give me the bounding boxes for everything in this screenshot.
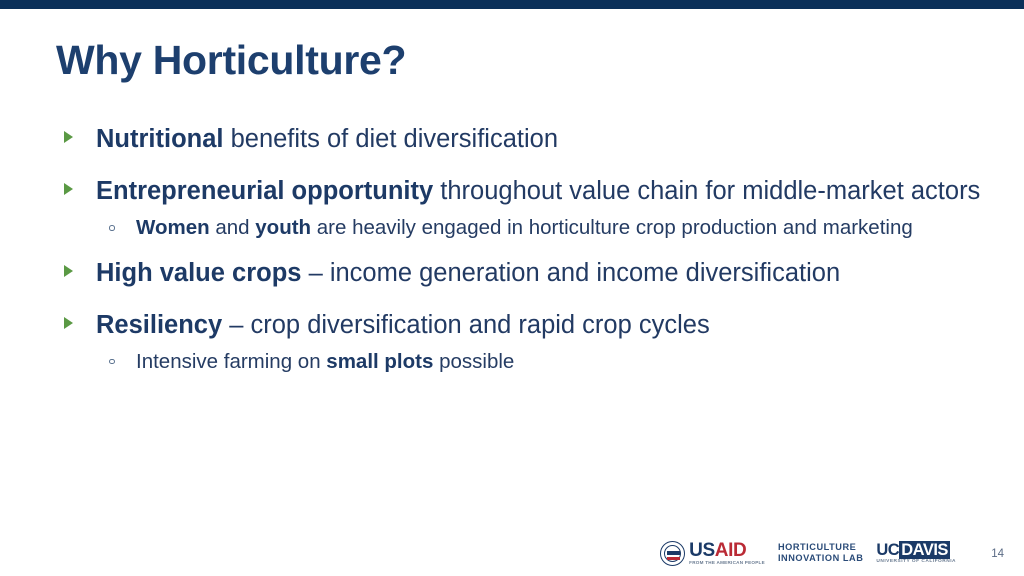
usaid-main-text: USAID bbox=[689, 541, 765, 560]
circle-bullet-icon bbox=[109, 225, 115, 231]
usaid-seal-bar bbox=[667, 551, 680, 556]
bullet-text: are heavily engaged in horticulture crop… bbox=[311, 216, 913, 239]
usaid-seal-stripe bbox=[667, 557, 680, 560]
bullet-emphasis: Nutritional bbox=[96, 125, 224, 153]
usaid-us: US bbox=[689, 540, 715, 561]
bullet-text: – income generation and income diversifi… bbox=[301, 259, 840, 287]
bullet-text: possible bbox=[433, 350, 514, 373]
sub-list-item: Intensive farming on small plots possibl… bbox=[56, 348, 986, 375]
usaid-aid: AID bbox=[715, 540, 747, 561]
bullet-emphasis: Women bbox=[136, 216, 210, 239]
usaid-wordmark: USAID FROM THE AMERICAN PEOPLE bbox=[689, 541, 765, 566]
triangle-bullet-icon bbox=[64, 183, 73, 195]
bullet-emphasis: youth bbox=[255, 216, 311, 239]
ucdavis-logo: UCDAVIS UNIVERSITY OF CALIFORNIA bbox=[876, 542, 956, 565]
ucdavis-uc: UC bbox=[876, 541, 899, 559]
triangle-bullet-icon bbox=[64, 317, 73, 329]
bullet-emphasis: Resiliency bbox=[96, 311, 222, 339]
bullet-text: and bbox=[210, 216, 256, 239]
bullet-text: benefits of diet diversification bbox=[224, 125, 559, 153]
slide: Why Horticulture? Nutritional benefits o… bbox=[0, 0, 1024, 576]
list-item: Entrepreneurial opportunity throughout v… bbox=[56, 174, 986, 208]
horticulture-innovation-lab-logo: HORTICULTURE INNOVATION LAB bbox=[778, 542, 863, 564]
bullet-emphasis: Entrepreneurial opportunity bbox=[96, 177, 433, 205]
ucdavis-tagline: UNIVERSITY OF CALIFORNIA bbox=[876, 560, 956, 565]
slide-footer: USAID FROM THE AMERICAN PEOPLE HORTICULT… bbox=[0, 520, 1024, 576]
circle-bullet-icon bbox=[109, 359, 115, 365]
bullet-text: – crop diversification and rapid crop cy… bbox=[222, 311, 710, 339]
usaid-seal-icon bbox=[660, 541, 685, 566]
sub-list-item: Women and youth are heavily engaged in h… bbox=[56, 214, 986, 241]
list-item: Resiliency – crop diversification and ra… bbox=[56, 308, 986, 342]
bullet-emphasis: small plots bbox=[326, 350, 433, 373]
ucdavis-wordmark: UCDAVIS bbox=[876, 542, 956, 559]
bullet-text: throughout value chain for middle-market… bbox=[433, 177, 980, 205]
page-title: Why Horticulture? bbox=[56, 38, 406, 83]
usaid-tagline: FROM THE AMERICAN PEOPLE bbox=[689, 561, 765, 566]
top-accent-band bbox=[0, 0, 1024, 9]
ucdavis-davis: DAVIS bbox=[899, 541, 950, 559]
triangle-bullet-icon bbox=[64, 131, 73, 143]
partner-logos: USAID FROM THE AMERICAN PEOPLE HORTICULT… bbox=[660, 541, 956, 566]
list-item: Nutritional benefits of diet diversifica… bbox=[56, 122, 986, 156]
hort-lab-line1: HORTICULTURE bbox=[778, 542, 863, 553]
usaid-logo: USAID FROM THE AMERICAN PEOPLE bbox=[660, 541, 765, 566]
hort-lab-line2: INNOVATION LAB bbox=[778, 553, 863, 564]
list-item: High value crops – income generation and… bbox=[56, 256, 986, 290]
bullet-text: Intensive farming on bbox=[136, 350, 326, 373]
bullet-list: Nutritional benefits of diet diversifica… bbox=[56, 122, 986, 379]
page-number: 14 bbox=[991, 548, 1004, 560]
bullet-emphasis: High value crops bbox=[96, 259, 301, 287]
triangle-bullet-icon bbox=[64, 265, 73, 277]
